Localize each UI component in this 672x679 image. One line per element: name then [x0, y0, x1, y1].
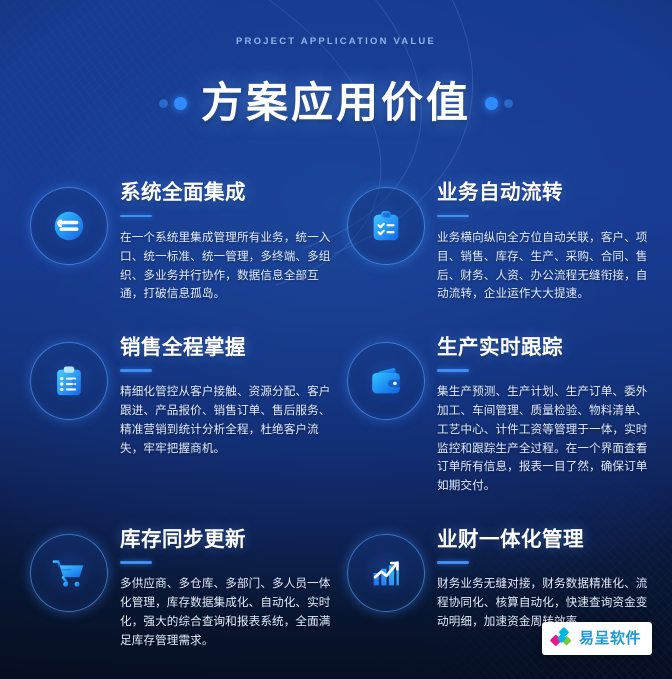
feature-description: 业务横向纵向全方位自动关联，客户、项目、销售、库存、生产、采购、合同、售后、财务…	[437, 229, 648, 304]
feature-description: 精细化管控从客户接触、资源分配、客户跟进、产品报价、销售订单、售后服务、精准营销…	[120, 383, 331, 458]
feature-grid: 系统全面集成 在一个系统里集成管理所有业务，统一入口、统一标准、统一管理，多终端…	[0, 179, 672, 662]
feature-divider	[120, 215, 152, 218]
feature-divider	[437, 369, 469, 372]
title-dots-right	[485, 97, 513, 110]
clipboard-check-icon	[367, 207, 405, 245]
poster-canvas: PROJECT APPLICATION VALUE 方案应用价值	[0, 0, 672, 679]
integration-lines-icon	[50, 207, 88, 245]
decorative-dot-small-icon	[159, 99, 168, 108]
feature-title: 业务自动流转	[437, 181, 648, 206]
feature-divider	[437, 215, 469, 218]
feature-card: 业务自动流转 业务横向纵向全方位自动关联，客户、项目、销售、库存、生产、采购、合…	[347, 179, 648, 315]
feature-title: 系统全面集成	[120, 181, 331, 206]
feature-icon-badge	[347, 534, 425, 612]
feature-divider	[120, 561, 152, 564]
feature-icon-badge	[30, 342, 108, 420]
brand-logo: 易呈软件	[542, 622, 652, 655]
feature-description: 集生产预测、生产计划、生产订单、委外加工、车间管理、质量检验、物料清单、工艺中心…	[437, 383, 648, 496]
page-title: 方案应用价值	[201, 82, 471, 124]
feature-body: 业务自动流转 业务横向纵向全方位自动关联，客户、项目、销售、库存、生产、采购、合…	[437, 179, 648, 315]
growth-chart-icon	[367, 554, 405, 592]
feature-title: 业财一体化管理	[437, 528, 648, 553]
feature-body: 库存同步更新 多供应商、多仓库、多部门、多人员一体化管理，库存数据集成化、自动化…	[120, 526, 331, 662]
decorative-dot-large-icon	[174, 97, 187, 110]
feature-icon-badge	[30, 534, 108, 612]
feature-icon-badge	[347, 342, 425, 420]
feature-divider	[120, 369, 152, 372]
diamond-pinwheel-icon	[550, 627, 573, 650]
feature-icon-badge	[30, 187, 108, 265]
wallet-icon	[367, 362, 405, 400]
title-dots-left	[159, 97, 187, 110]
decorative-dot-large-icon	[485, 97, 498, 110]
brand-name: 易呈软件	[579, 631, 641, 646]
feature-card: 生产实时跟踪 集生产预测、生产计划、生产订单、委外加工、车间管理、质量检验、物料…	[347, 334, 648, 508]
feature-title: 生产实时跟踪	[437, 336, 648, 361]
feature-description: 在一个系统里集成管理所有业务，统一入口、统一标准、统一管理，多终端、多组织、多业…	[120, 229, 331, 304]
poster-header: PROJECT APPLICATION VALUE 方案应用价值	[0, 0, 672, 152]
feature-icon-badge	[347, 187, 425, 265]
feature-title: 销售全程掌握	[120, 336, 331, 361]
feature-divider	[437, 561, 469, 564]
feature-body: 销售全程掌握 精细化管控从客户接触、资源分配、客户跟进、产品报价、销售订单、售后…	[120, 334, 331, 470]
clipboard-list-icon	[50, 362, 88, 400]
feature-card: 库存同步更新 多供应商、多仓库、多部门、多人员一体化管理，库存数据集成化、自动化…	[30, 526, 331, 662]
feature-description: 多供应商、多仓库、多部门、多人员一体化管理，库存数据集成化、自动化、实时化，强大…	[120, 575, 331, 650]
shopping-cart-icon	[50, 554, 88, 592]
feature-title: 库存同步更新	[120, 528, 331, 553]
feature-body: 生产实时跟踪 集生产预测、生产计划、生产订单、委外加工、车间管理、质量检验、物料…	[437, 334, 648, 508]
title-row: 方案应用价值	[0, 54, 672, 152]
decorative-dot-small-icon	[504, 99, 513, 108]
eyebrow-label: PROJECT APPLICATION VALUE	[0, 36, 672, 47]
feature-body: 系统全面集成 在一个系统里集成管理所有业务，统一入口、统一标准、统一管理，多终端…	[120, 179, 331, 315]
feature-card: 系统全面集成 在一个系统里集成管理所有业务，统一入口、统一标准、统一管理，多终端…	[30, 179, 331, 315]
feature-card: 销售全程掌握 精细化管控从客户接触、资源分配、客户跟进、产品报价、销售订单、售后…	[30, 334, 331, 508]
